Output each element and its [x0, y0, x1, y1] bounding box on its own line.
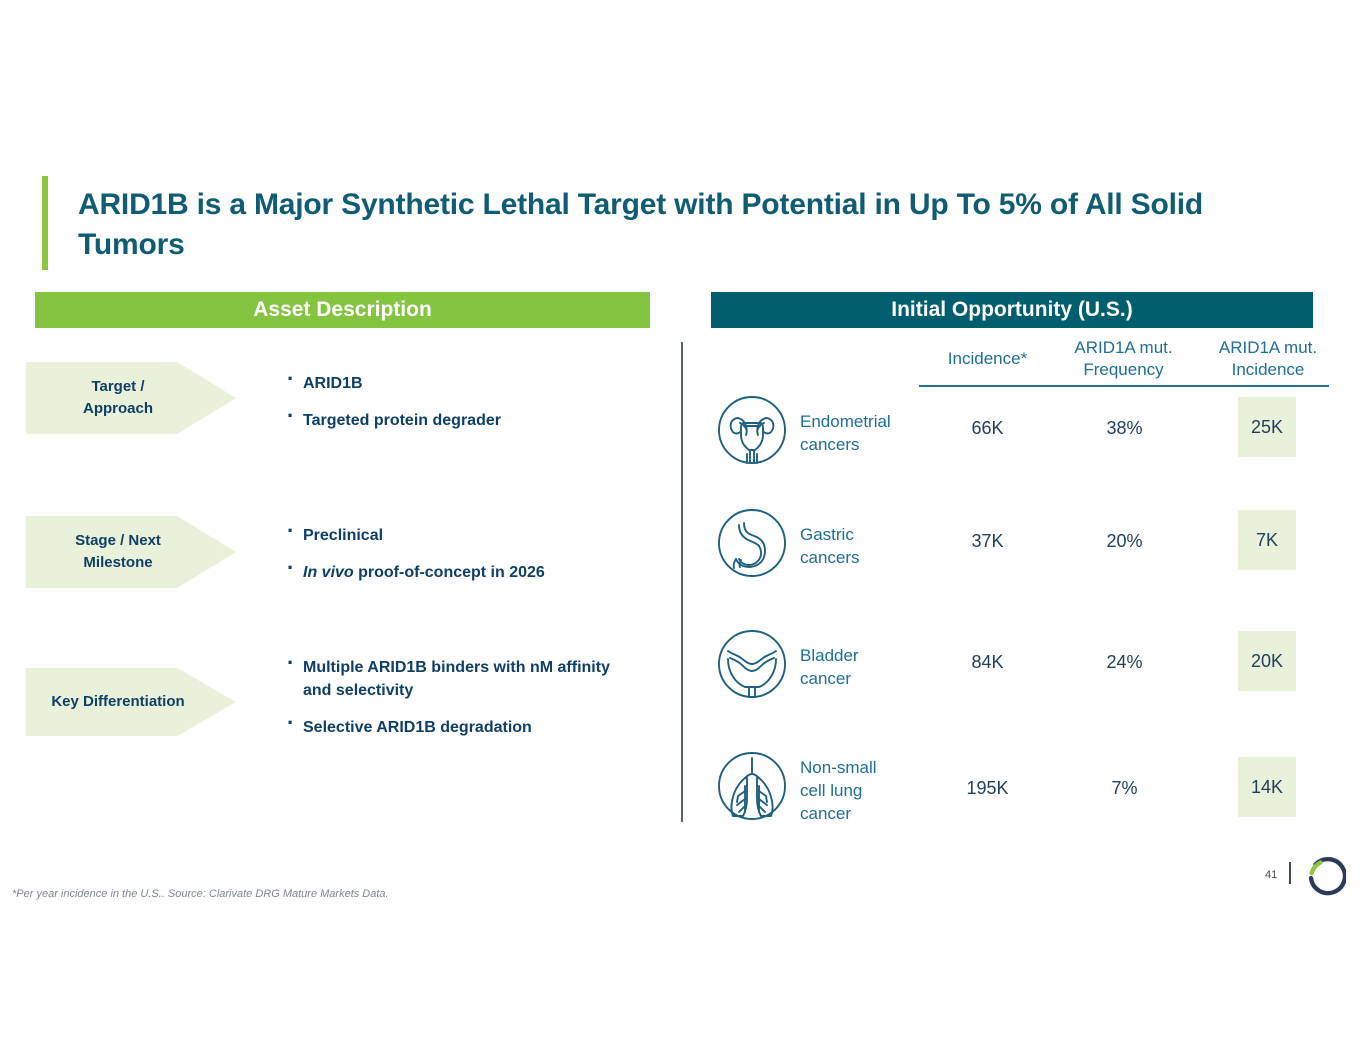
chip-stage-next-milestone: Stage / Next Milestone — [26, 516, 236, 588]
asset-description-header: Asset Description — [35, 292, 650, 328]
column-header-mut-incidence-line1: ARID1A mut. — [1219, 338, 1317, 357]
uterus-icon — [714, 392, 790, 468]
footnote: *Per year incidence in the U.S.. Source:… — [12, 888, 389, 900]
page-number-separator — [1289, 862, 1291, 884]
row-label-line2: cancers — [800, 548, 860, 567]
bullet-item: Multiple ARID1B binders with nM affinity… — [283, 656, 633, 702]
chip-stage-line1: Stage / Next — [75, 532, 161, 549]
table-row: Bladder cancer 84K 24% 20K — [705, 626, 1340, 726]
row-label-line1: Gastric — [800, 525, 854, 544]
initial-opportunity-header: Initial Opportunity (U.S.) — [711, 292, 1313, 328]
bladder-icon — [714, 626, 790, 702]
cell-mut-incidence: 7K — [1238, 510, 1296, 570]
title-accent-bar — [42, 176, 48, 270]
chip-key-differentiation-label: Key Differentiation — [51, 691, 184, 713]
cell-mut-frequency: 20% — [1057, 531, 1192, 552]
cell-mut-incidence: 20K — [1238, 631, 1296, 691]
panel-divider — [681, 342, 683, 822]
cell-mut-incidence: 14K — [1238, 757, 1296, 817]
chip-stage-line2: Milestone — [83, 554, 152, 571]
chip-target-approach-line1: Target / — [91, 378, 144, 395]
bullet-item: Targeted protein degrader — [283, 409, 643, 432]
table-header-rule — [919, 385, 1329, 387]
company-logo-icon — [1302, 856, 1346, 900]
row-label: Bladder cancer — [800, 644, 915, 690]
cell-incidence: 37K — [935, 531, 1040, 552]
slide-canvas: ARID1B is a Major Synthetic Lethal Targe… — [0, 0, 1365, 1055]
page-number: 41 — [1265, 869, 1277, 881]
row-label-line1: Non-small — [800, 758, 877, 777]
bullets-stage-next-milestone: Preclinical In vivo proof-of-concept in … — [283, 524, 663, 598]
table-row: Non-small cell lung cancer 195K 7% 14K — [705, 748, 1340, 848]
row-label-line2: cancers — [800, 435, 860, 454]
cell-incidence: 84K — [935, 652, 1040, 673]
cell-incidence: 195K — [935, 778, 1040, 799]
table-row: Gastric cancers 37K 20% 7K — [705, 505, 1340, 605]
bullet-item: In vivo proof-of-concept in 2026 — [283, 561, 663, 584]
bullet-item: ARID1B — [283, 372, 643, 395]
row-label: Gastric cancers — [800, 523, 915, 569]
column-header-mut-incidence: ARID1A mut. Incidence — [1198, 337, 1338, 381]
cell-mut-frequency: 24% — [1057, 652, 1192, 673]
row-label-line3: cancer — [800, 804, 851, 823]
row-label-line2: cancer — [800, 669, 851, 688]
cell-mut-incidence: 25K — [1238, 397, 1296, 457]
cell-incidence: 66K — [935, 418, 1040, 439]
bullet-item: Selective ARID1B degradation — [283, 716, 633, 739]
page-title: ARID1B is a Major Synthetic Lethal Targe… — [78, 185, 1268, 265]
row-label: Endometrial cancers — [800, 410, 915, 456]
column-header-incidence: Incidence* — [935, 348, 1040, 370]
cell-mut-frequency: 38% — [1057, 418, 1192, 439]
bullet-italic-prefix: In vivo — [303, 564, 354, 581]
bullet-text: proof-of-concept in 2026 — [354, 564, 545, 581]
row-label-line1: Bladder — [800, 646, 859, 665]
column-header-mut-frequency-line2: Frequency — [1083, 360, 1163, 379]
column-header-mut-frequency-line1: ARID1A mut. — [1074, 338, 1172, 357]
bullet-item: Preclinical — [283, 524, 663, 547]
row-label-line1: Endometrial — [800, 412, 891, 431]
bullets-target-approach: ARID1B Targeted protein degrader — [283, 372, 643, 446]
lungs-icon — [714, 748, 790, 824]
cell-mut-frequency: 7% — [1057, 778, 1192, 799]
column-header-mut-incidence-line2: Incidence — [1232, 360, 1305, 379]
column-header-mut-frequency: ARID1A mut. Frequency — [1056, 337, 1191, 381]
row-label: Non-small cell lung cancer — [800, 756, 915, 825]
chip-target-approach-line2: Approach — [83, 400, 153, 417]
stomach-icon — [714, 505, 790, 581]
row-label-line2: cell lung — [800, 781, 862, 800]
table-row: Endometrial cancers 66K 38% 25K — [705, 392, 1340, 492]
chip-key-differentiation: Key Differentiation — [26, 668, 236, 736]
chip-target-approach: Target / Approach — [26, 362, 236, 434]
bullets-key-differentiation: Multiple ARID1B binders with nM affinity… — [283, 656, 633, 753]
